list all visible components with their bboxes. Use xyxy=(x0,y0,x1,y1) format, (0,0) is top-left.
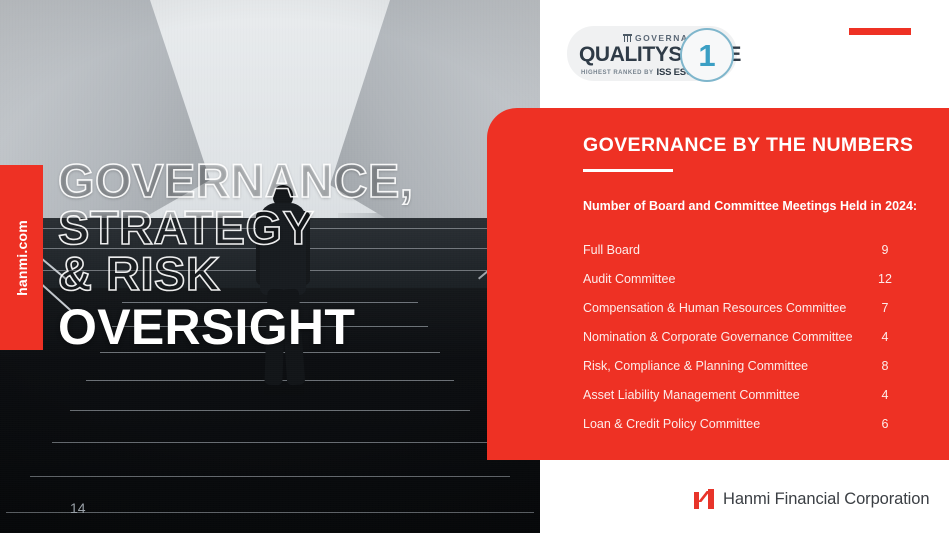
meeting-count: 12 xyxy=(873,265,897,294)
title-line-4: OVERSIGHT xyxy=(58,302,413,352)
panel-subheading: Number of Board and Committee Meetings H… xyxy=(583,199,917,213)
iss-governance-qualityscore-badge: GOVERNANCE QUALITYSCORE HIGHEST RANKED B… xyxy=(567,26,737,81)
meeting-count: 6 xyxy=(873,410,897,439)
badge-subline: HIGHEST RANKED BY ISS ESG› xyxy=(581,67,696,78)
slide-canvas: hanmi.com GOVERNANCE, STRATEGY & RISK OV… xyxy=(0,0,949,533)
meeting-count: 9 xyxy=(873,236,897,265)
title-line-3: & RISK xyxy=(58,251,413,298)
page-number: 14 xyxy=(70,500,86,516)
table-row: Asset Liability Management Committee4 xyxy=(583,381,903,410)
meeting-count: 4 xyxy=(873,381,897,410)
committee-name: Nomination & Corporate Governance Commit… xyxy=(583,323,853,352)
table-row: Audit Committee12 xyxy=(583,265,903,294)
slide-title: GOVERNANCE, STRATEGY & RISK OVERSIGHT xyxy=(58,158,413,352)
company-name: Hanmi Financial Corporation xyxy=(723,490,929,509)
committee-name: Audit Committee xyxy=(583,265,675,294)
badge-score-value: 1 xyxy=(698,40,715,71)
committee-name: Compensation & Human Resources Committee xyxy=(583,294,846,323)
heading-underline-rule xyxy=(583,169,673,172)
governance-numbers-panel: GOVERNANCE BY THE NUMBERS Number of Boar… xyxy=(487,108,949,460)
footer-logo: Hanmi Financial Corporation xyxy=(694,489,929,509)
meetings-table: Full Board9Audit Committee12Compensation… xyxy=(583,236,903,439)
red-accent-bar xyxy=(849,28,911,35)
table-row: Nomination & Corporate Governance Commit… xyxy=(583,323,903,352)
badge-highest-ranked-label: HIGHEST RANKED BY xyxy=(581,70,654,76)
committee-name: Loan & Credit Policy Committee xyxy=(583,410,760,439)
panel-heading: GOVERNANCE BY THE NUMBERS xyxy=(583,134,913,157)
table-row: Compensation & Human Resources Committee… xyxy=(583,294,903,323)
meeting-count: 7 xyxy=(873,294,897,323)
meeting-count: 8 xyxy=(873,352,897,381)
table-row: Risk, Compliance & Planning Committee8 xyxy=(583,352,903,381)
committee-name: Risk, Compliance & Planning Committee xyxy=(583,352,808,381)
side-tab-label: hanmi.com xyxy=(14,220,30,296)
table-row: Loan & Credit Policy Committee6 xyxy=(583,410,903,439)
badge-score-circle: 1 xyxy=(680,28,734,82)
meeting-count: 4 xyxy=(873,323,897,352)
table-row: Full Board9 xyxy=(583,236,903,265)
title-line-1: GOVERNANCE, xyxy=(58,158,413,205)
side-tab-hanmi-com[interactable]: hanmi.com xyxy=(0,165,43,350)
committee-name: Full Board xyxy=(583,236,640,265)
bank-icon xyxy=(623,34,632,42)
title-line-2: STRATEGY xyxy=(58,205,413,252)
hanmi-logo-icon xyxy=(694,489,715,509)
committee-name: Asset Liability Management Committee xyxy=(583,381,800,410)
